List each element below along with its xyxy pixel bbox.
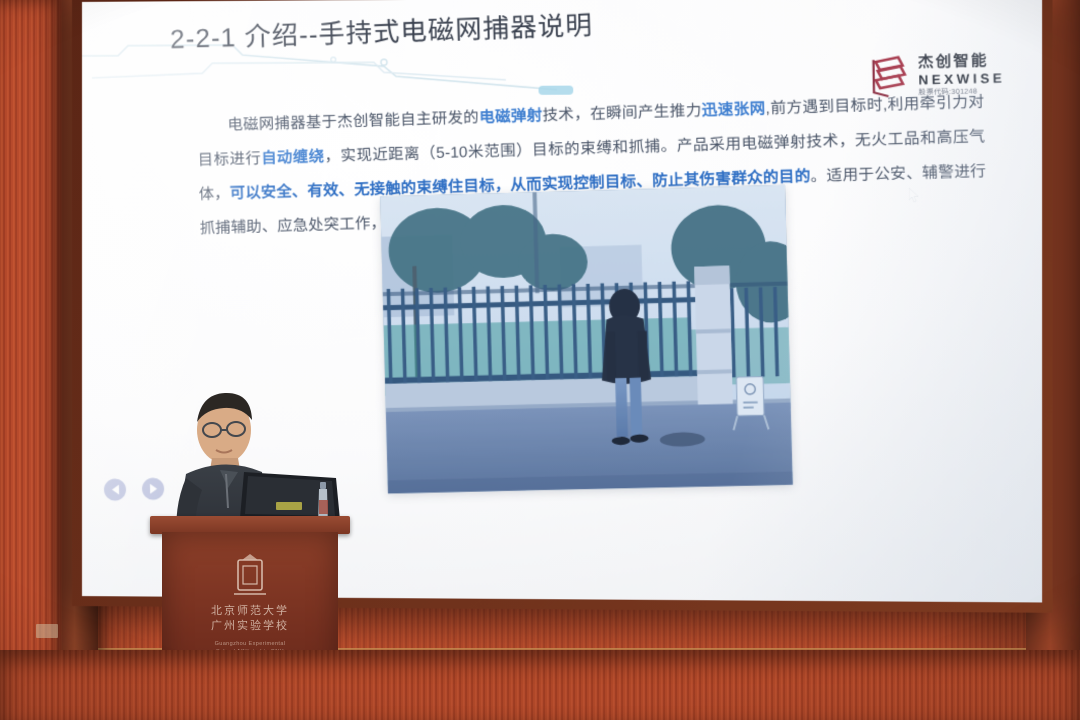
logo-english-name: NEXWISE <box>918 71 1005 86</box>
school-name-line1: 北京师范大学 <box>162 604 338 619</box>
slide-demo-photo <box>380 185 793 493</box>
previous-slide-button[interactable] <box>104 478 127 500</box>
wall-outlet-plate <box>36 624 58 638</box>
school-emblem-icon <box>232 554 268 598</box>
text-seg-1: 电磁网捕器基于杰创智能自主研发的 <box>227 109 479 134</box>
text-seg-2: 技术，在瞬间产生推力 <box>542 102 702 124</box>
chevron-left-icon <box>111 485 118 495</box>
presentation-room-photo: 2-2-1 介绍--手持式电磁网捕器说明 杰创智能 NEXWISE 股票代码:3… <box>0 0 1080 720</box>
school-name-line2: 广州实验学校 <box>162 619 338 634</box>
school-en-line1: Guangzhou Experimental <box>162 640 338 648</box>
logo-chinese-name: 杰创智能 <box>918 52 1005 69</box>
podium-school-name-cn: 北京师范大学 广州实验学校 <box>162 604 338 634</box>
mouse-cursor-icon <box>909 188 919 202</box>
demo-photo-illustration <box>380 185 793 493</box>
highlight-rapid-net: 迅速张网 <box>701 100 765 119</box>
highlight-electromagnetic-launch: 电磁弹射 <box>479 107 543 126</box>
floor-wall-base <box>0 650 1080 720</box>
highlight-auto-wrap: 自动缠绕 <box>261 148 325 167</box>
wall-panel-left <box>0 0 64 720</box>
